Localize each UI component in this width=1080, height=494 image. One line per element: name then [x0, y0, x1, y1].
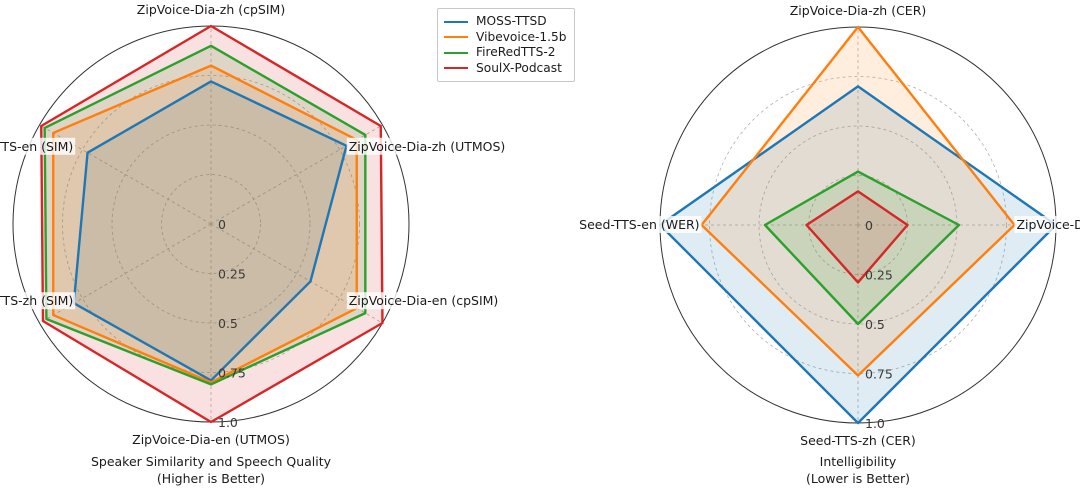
- axis-category-label: Seed-TTS-zh (SIM): [0, 293, 73, 308]
- axis-category-label: ZipVoice-Dia-zh (CER): [790, 3, 927, 18]
- legend-swatch-moss-ttsd: [444, 21, 468, 23]
- radar-svg-right: 00.250.50.751.0ZipVoice-Dia-zh (CER)ZipV…: [540, 0, 1080, 494]
- legend: MOSS-TTSD Vibevoice-1.5b FireRedTTS-2 So…: [437, 8, 575, 82]
- axis-category-label: ZipVoice-Dia-en (UTMOS): [132, 432, 290, 447]
- chart-caption-line1: Intelligibility: [820, 454, 897, 469]
- legend-item[interactable]: FireRedTTS-2: [444, 45, 566, 61]
- radial-tick-label: 0: [218, 217, 226, 232]
- legend-item[interactable]: Vibevoice-1.5b: [444, 30, 566, 46]
- legend-swatch-vibevoice: [444, 36, 468, 38]
- legend-label-firedtts: FireRedTTS-2: [476, 45, 555, 61]
- legend-item[interactable]: SoulX-Podcast: [444, 61, 566, 77]
- radial-tick-label: 1.0: [865, 416, 885, 431]
- axis-category-label: Seed-TTS-en (SIM): [0, 139, 73, 154]
- legend-swatch-soulx: [444, 67, 468, 69]
- legend-label-vibevoice: Vibevoice-1.5b: [476, 30, 566, 46]
- radial-tick-label: 0: [865, 218, 873, 233]
- legend-swatch-firedtts: [444, 52, 468, 54]
- axis-category-label: Seed-TTS-en (WER): [579, 217, 699, 232]
- chart-caption-line2: (Lower is Better): [806, 471, 910, 486]
- radial-tick-label: 0.25: [865, 268, 893, 283]
- axis-category-label: ZipVoice-Dia-en (cpSIM): [349, 293, 499, 308]
- legend-label-moss-ttsd: MOSS-TTSD: [476, 14, 547, 30]
- axis-category-label: ZipVoice-Dia-zh (UTMOS): [349, 139, 506, 154]
- radial-tick-label: 0.5: [865, 317, 885, 332]
- figure-root: 00.250.50.751.0ZipVoice-Dia-zh (cpSIM)Zi…: [0, 0, 1080, 494]
- axis-category-label: ZipVoice-Dia-zh (cpSIM): [137, 2, 285, 17]
- radial-tick-label: 0.75: [218, 366, 246, 381]
- radial-tick-label: 0.25: [218, 267, 246, 282]
- radial-tick-label: 0.5: [218, 316, 238, 331]
- chart-caption-line1: Speaker Similarity and Speech Quality: [91, 454, 332, 469]
- axis-category-label: Seed-TTS-zh (CER): [800, 433, 916, 448]
- radial-tick-label: 1.0: [218, 415, 238, 430]
- chart-caption-line2: (Higher is Better): [157, 471, 265, 486]
- legend-label-soulx: SoulX-Podcast: [476, 61, 562, 77]
- radar-chart-right: 00.250.50.751.0ZipVoice-Dia-zh (CER)ZipV…: [540, 0, 1080, 494]
- axis-category-label: ZipVoice-Dia-en (WER): [1016, 217, 1080, 232]
- legend-item[interactable]: MOSS-TTSD: [444, 14, 566, 30]
- radial-tick-label: 0.75: [865, 367, 893, 382]
